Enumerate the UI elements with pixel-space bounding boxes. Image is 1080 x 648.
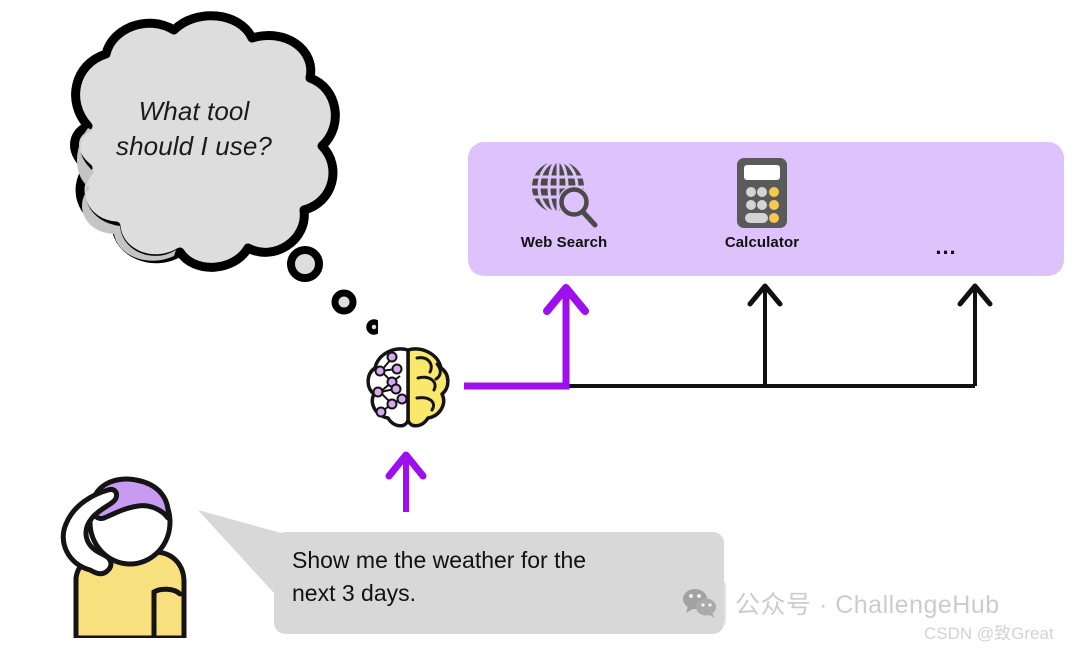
csdn-watermark-text: CSDN @致Great (924, 619, 1054, 644)
wechat-icon (674, 578, 726, 628)
globe-search-icon (494, 156, 634, 230)
tool-option-web-search[interactable]: Web Search (494, 156, 634, 251)
arrow-head-user-input (389, 455, 423, 476)
thought-dot-small (369, 322, 378, 332)
thought-dot-large (291, 250, 319, 278)
thought-bubble: What tool should I use? (8, 6, 378, 346)
arrow-head-more (960, 286, 990, 304)
diagram-canvas: What tool should I use? (0, 0, 1080, 648)
thought-dot-medium (335, 293, 353, 311)
arrow-head-web-search (547, 288, 585, 311)
tool-label-web-search: Web Search (494, 234, 634, 251)
user-message-line-2: next 3 days. (292, 577, 692, 610)
thought-line-2: should I use? (64, 129, 324, 164)
calculator-icon (692, 156, 832, 230)
user-message-bubble: Show me the weather for the next 3 days. (196, 506, 726, 638)
thought-bubble-shape (8, 6, 378, 346)
llm-brain-icon (362, 342, 454, 434)
user-message-line-1: Show me the weather for the (292, 544, 692, 577)
user-message-text: Show me the weather for the next 3 days. (292, 544, 692, 609)
tool-option-more[interactable]: ... (906, 242, 986, 252)
arrow-shaft-web-search (464, 293, 566, 386)
tool-label-calculator: Calculator (692, 234, 832, 251)
confused-person-icon (28, 466, 218, 638)
tool-option-calculator[interactable]: Calculator (692, 156, 832, 251)
arrow-head-calculator (750, 286, 780, 304)
wechat-watermark-text: 公众号 · ChallengeHub (735, 585, 1000, 621)
thought-bubble-text: What tool should I use? (64, 94, 324, 163)
thought-line-1: What tool (64, 94, 324, 129)
tool-panel: Web Search (468, 142, 1064, 276)
